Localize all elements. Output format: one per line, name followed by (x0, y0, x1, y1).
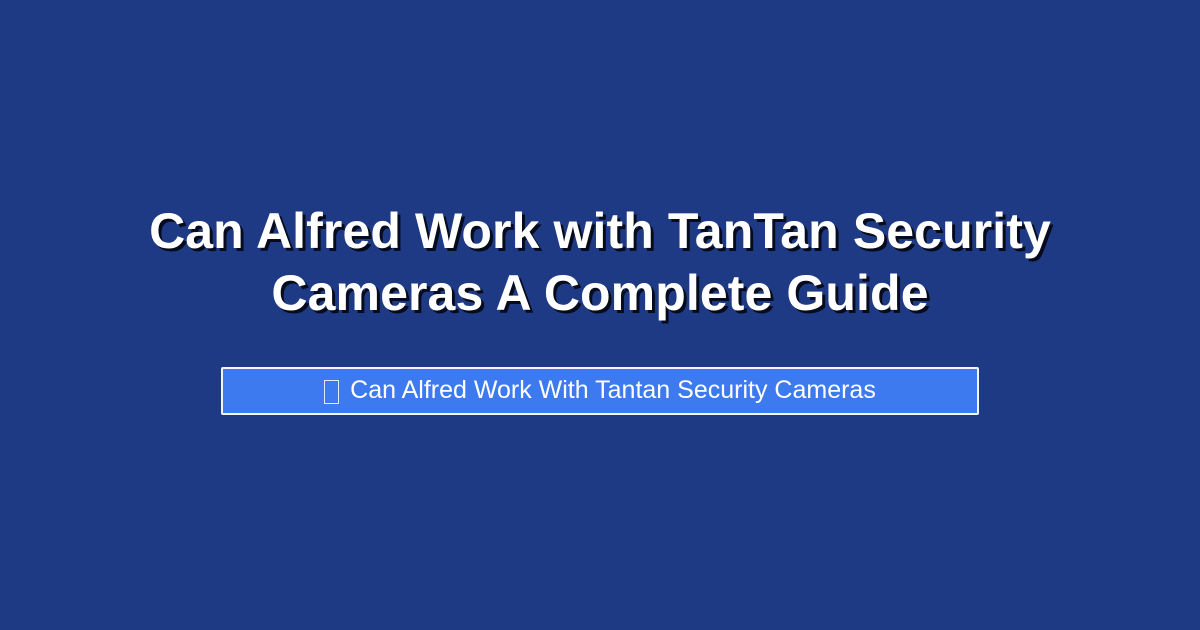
article-link-label: Can Alfred Work With Tantan Security Cam… (350, 378, 876, 403)
card-content-stack: Can Alfred Work with TanTan Security Cam… (64, 200, 1136, 415)
page-title: Can Alfred Work with TanTan Security Cam… (64, 200, 1136, 324)
missing-glyph-box-icon (324, 380, 339, 404)
social-share-card: Can Alfred Work with TanTan Security Cam… (0, 0, 1200, 630)
article-link-button[interactable]: Can Alfred Work With Tantan Security Cam… (221, 367, 979, 415)
badge-row: Can Alfred Work With Tantan Security Cam… (64, 367, 1136, 415)
